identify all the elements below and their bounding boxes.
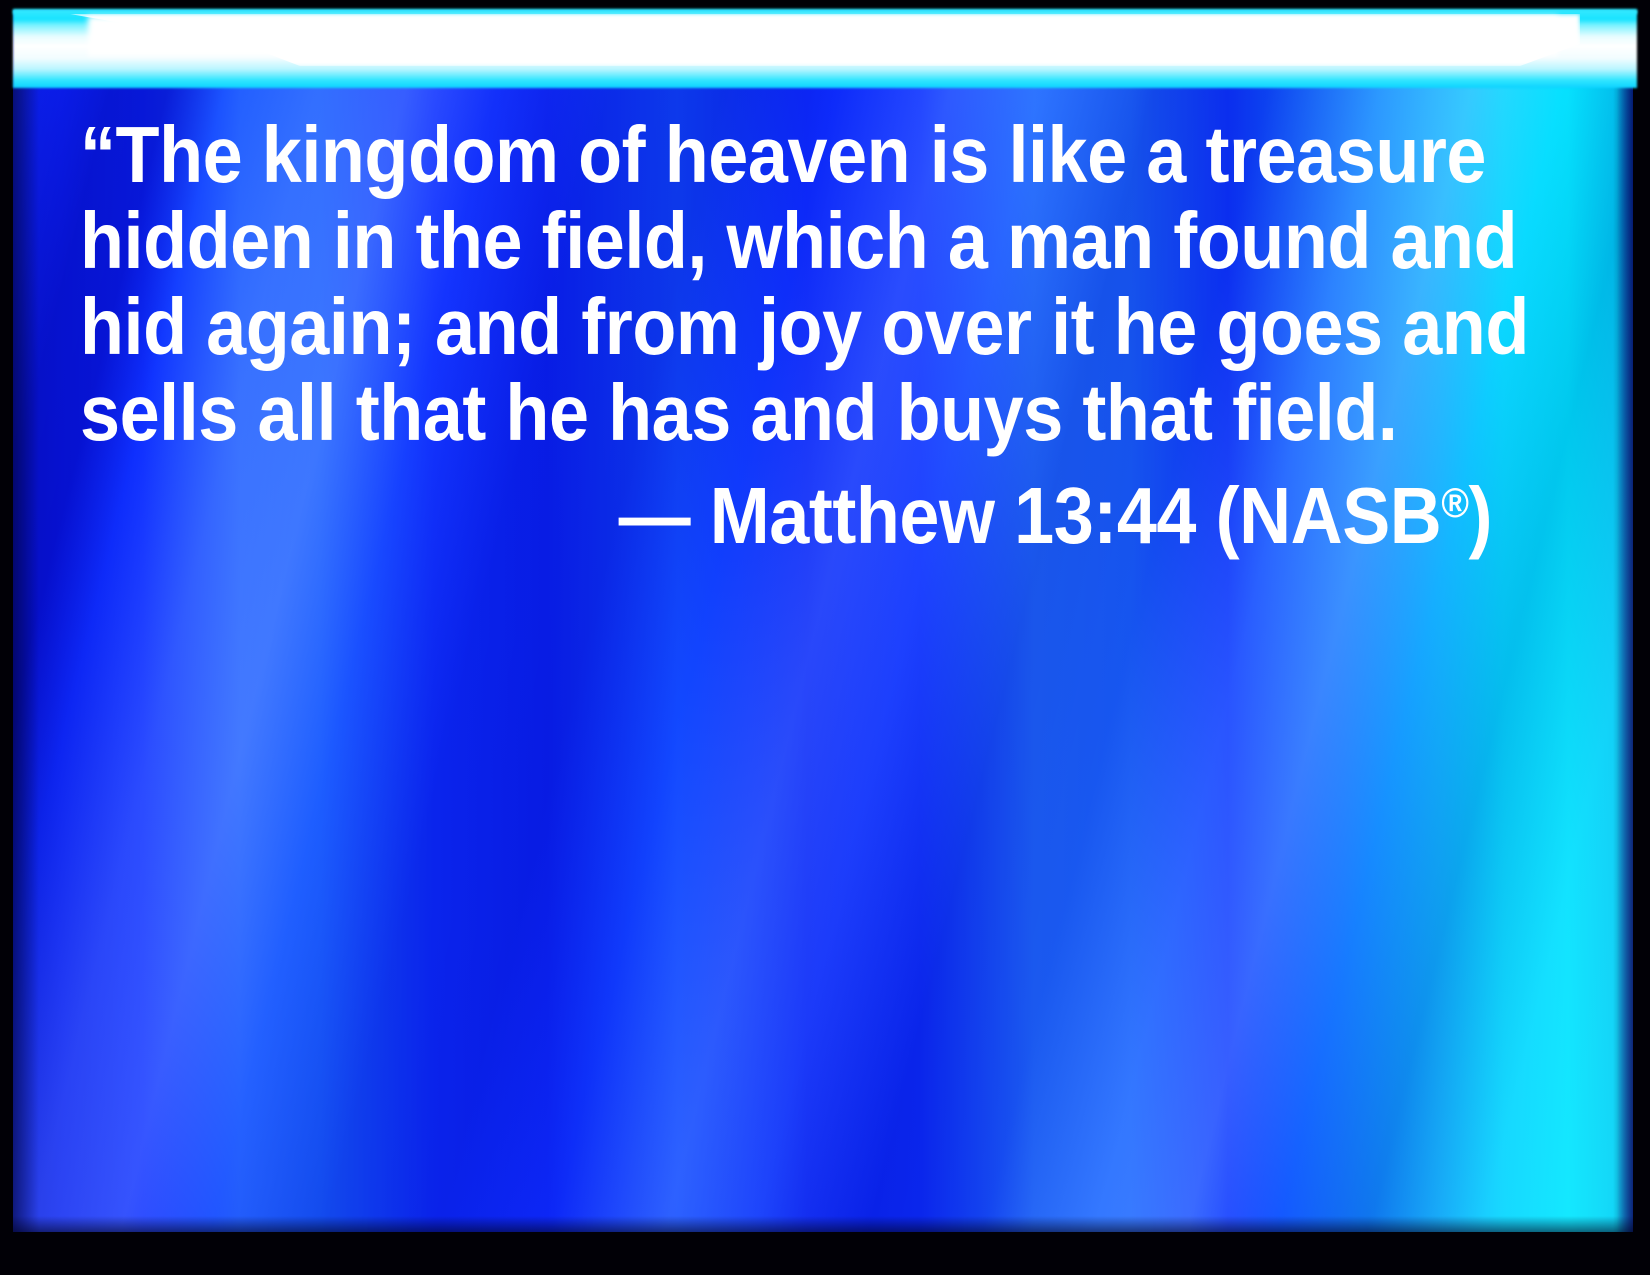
verse-text-block: “The kingdom of heaven is like a treasur… bbox=[80, 112, 1492, 559]
verse-line-3: hid again; and from joy over it he goes … bbox=[80, 284, 1351, 370]
verse-slide: “The kingdom of heaven is like a treasur… bbox=[0, 0, 1650, 1275]
attribution-reference: Matthew 13:44 bbox=[710, 471, 1196, 560]
verse-line-4: sells all that he has and buys that fiel… bbox=[80, 370, 1351, 456]
verse-attribution: — Matthew 13:44 (NASB®) bbox=[221, 460, 1492, 559]
verse-line-2: hidden in the field, which a man found a… bbox=[80, 198, 1351, 284]
registered-trademark-icon: ® bbox=[1441, 479, 1468, 526]
attribution-em-dash: — bbox=[619, 471, 691, 560]
verse-line-1: “The kingdom of heaven is like a treasur… bbox=[80, 112, 1351, 198]
attribution-translation-close: ) bbox=[1468, 471, 1492, 560]
attribution-translation-open: (NASB bbox=[1216, 471, 1442, 560]
